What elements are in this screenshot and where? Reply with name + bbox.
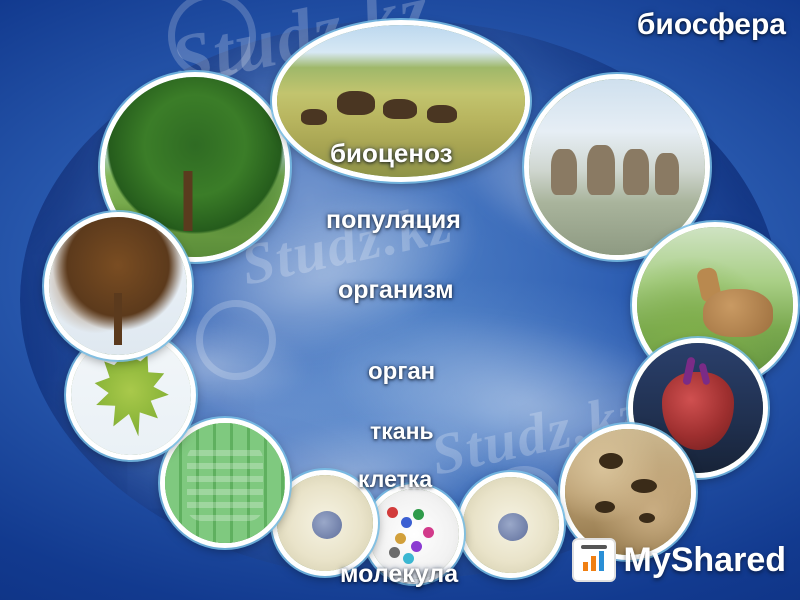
animal-shape <box>427 105 457 123</box>
label-molecule: молекула <box>340 560 458 589</box>
deer-shape <box>655 153 679 195</box>
watermark-ring-icon <box>196 300 276 380</box>
label-biocenosis: биоценоз <box>330 138 453 169</box>
icon-bar <box>583 562 588 571</box>
label-biosphere: биосфера <box>637 8 786 42</box>
leaf-shape <box>87 348 176 442</box>
label-organism: организм <box>338 276 454 305</box>
label-tissue: ткань <box>370 418 434 445</box>
photo-content <box>463 477 559 573</box>
dna-bead <box>413 509 424 520</box>
icon-bar <box>599 551 604 571</box>
dna-bead <box>423 527 434 538</box>
speck <box>599 453 623 469</box>
animal-cell-photo[interactable] <box>458 472 564 578</box>
speck <box>595 501 615 513</box>
icon-bar-top <box>581 545 607 549</box>
animal-shape <box>301 109 327 125</box>
myshared-chart-icon <box>572 538 616 582</box>
myshared-wordmark: MyShared <box>624 541 787 580</box>
photo-content <box>565 429 691 555</box>
animal-shape <box>383 99 417 119</box>
animal-shape <box>337 91 375 115</box>
deer-shape <box>587 145 615 195</box>
photo-content <box>49 217 187 355</box>
icon-bar <box>591 556 596 571</box>
label-organ: орган <box>368 358 435 386</box>
dna-bead <box>401 517 412 528</box>
label-cell: клетка <box>358 466 432 493</box>
speck <box>639 513 655 523</box>
bare-tree-photo[interactable] <box>44 212 192 360</box>
dna-bead <box>395 533 406 544</box>
speck <box>631 479 657 493</box>
dna-bead <box>411 541 422 552</box>
fawn-body-shape <box>703 289 773 337</box>
deer-shape <box>551 149 577 195</box>
dna-bead <box>387 507 398 518</box>
slide-canvas: Studz.kz Studz.kz Studz.kz <box>0 0 800 600</box>
myshared-logo[interactable]: MyShared <box>572 538 787 582</box>
dna-bead <box>389 547 400 558</box>
label-population: популяция <box>326 206 461 235</box>
deer-shape <box>623 149 649 195</box>
